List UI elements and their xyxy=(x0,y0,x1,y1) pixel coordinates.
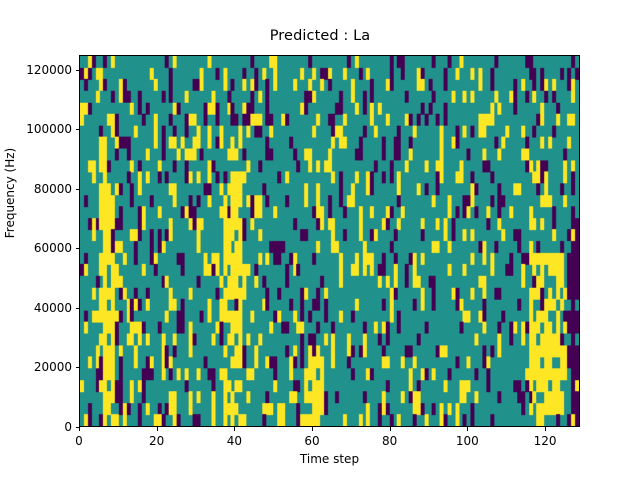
x-tick-mark xyxy=(545,427,546,431)
y-tick-label: 20000 xyxy=(34,360,72,374)
y-tick-label: 100000 xyxy=(26,122,72,136)
x-tick-label: 80 xyxy=(382,434,397,448)
x-tick-mark xyxy=(157,427,158,431)
x-tick-mark xyxy=(467,427,468,431)
x-tick-mark xyxy=(390,427,391,431)
x-tick-label: 40 xyxy=(227,434,242,448)
y-tick-label: 60000 xyxy=(34,241,72,255)
x-tick-mark xyxy=(312,427,313,431)
x-tick-label: 20 xyxy=(149,434,164,448)
heatmap-axes[interactable] xyxy=(79,55,580,427)
x-tick-mark xyxy=(234,427,235,431)
figure-canvas: Predicted : La Frequency (Hz) 0200004000… xyxy=(0,0,640,480)
y-tick-label: 120000 xyxy=(26,63,72,77)
x-tick-label: 0 xyxy=(75,434,83,448)
y-tick-label: 40000 xyxy=(34,301,72,315)
y-tick-label: 80000 xyxy=(34,182,72,196)
chart-title: Predicted : La xyxy=(0,28,640,44)
x-tick-label: 60 xyxy=(304,434,319,448)
heatmap-image xyxy=(80,56,579,426)
y-axis-label: Frequency (Hz) xyxy=(3,7,17,379)
x-tick-label: 120 xyxy=(534,434,557,448)
x-axis-label: Time step xyxy=(79,452,580,466)
x-tick-label: 100 xyxy=(456,434,479,448)
x-tick-mark xyxy=(79,427,80,431)
y-tick-label: 0 xyxy=(64,420,72,434)
